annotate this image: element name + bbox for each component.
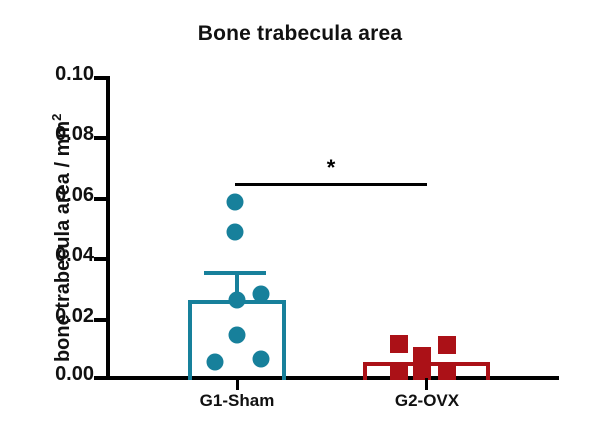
x-tick-label-g2-ovx: G2-OVX (337, 391, 517, 411)
y-tick-label-4: 0.02 (4, 306, 94, 326)
data-point (227, 224, 244, 241)
x-tick-g1-sham (236, 378, 239, 390)
y-tick-0.04 (94, 257, 107, 261)
data-point (413, 362, 431, 380)
error-bar-cap-g1-sham (204, 271, 266, 275)
x-tick-label-g1-sham: G1-Sham (147, 391, 327, 411)
data-point (390, 362, 408, 380)
data-point (207, 354, 224, 371)
y-tick-0.02 (94, 318, 107, 322)
chart-figure: Bone trabecula area bone trabecula area … (0, 0, 600, 432)
data-point (229, 327, 246, 344)
data-point (438, 362, 456, 380)
data-point (438, 336, 456, 354)
significance-bar (235, 183, 427, 186)
data-point (253, 286, 270, 303)
y-tick-0.00 (94, 376, 107, 380)
y-tick-label-0: 0.10 (4, 64, 94, 84)
y-tick-0.10 (94, 76, 107, 80)
data-point (253, 351, 270, 368)
y-tick-0.08 (94, 136, 107, 140)
y-tick-label-1: 0.08 (4, 124, 94, 144)
data-point (227, 194, 244, 211)
y-tick-0.06 (94, 197, 107, 201)
y-tick-label-3: 0.04 (4, 245, 94, 265)
y-tick-label-2: 0.06 (4, 185, 94, 205)
y-tick-label-5: 0.00 (4, 364, 94, 384)
data-point (390, 335, 408, 353)
significance-asterisk: * (327, 157, 336, 179)
chart-title: Bone trabecula area (0, 22, 600, 46)
x-tick-g2-ovx (425, 378, 428, 390)
y-axis-line (106, 76, 110, 380)
data-point (229, 292, 246, 309)
y-axis-label-exponent: 2 (49, 114, 64, 121)
